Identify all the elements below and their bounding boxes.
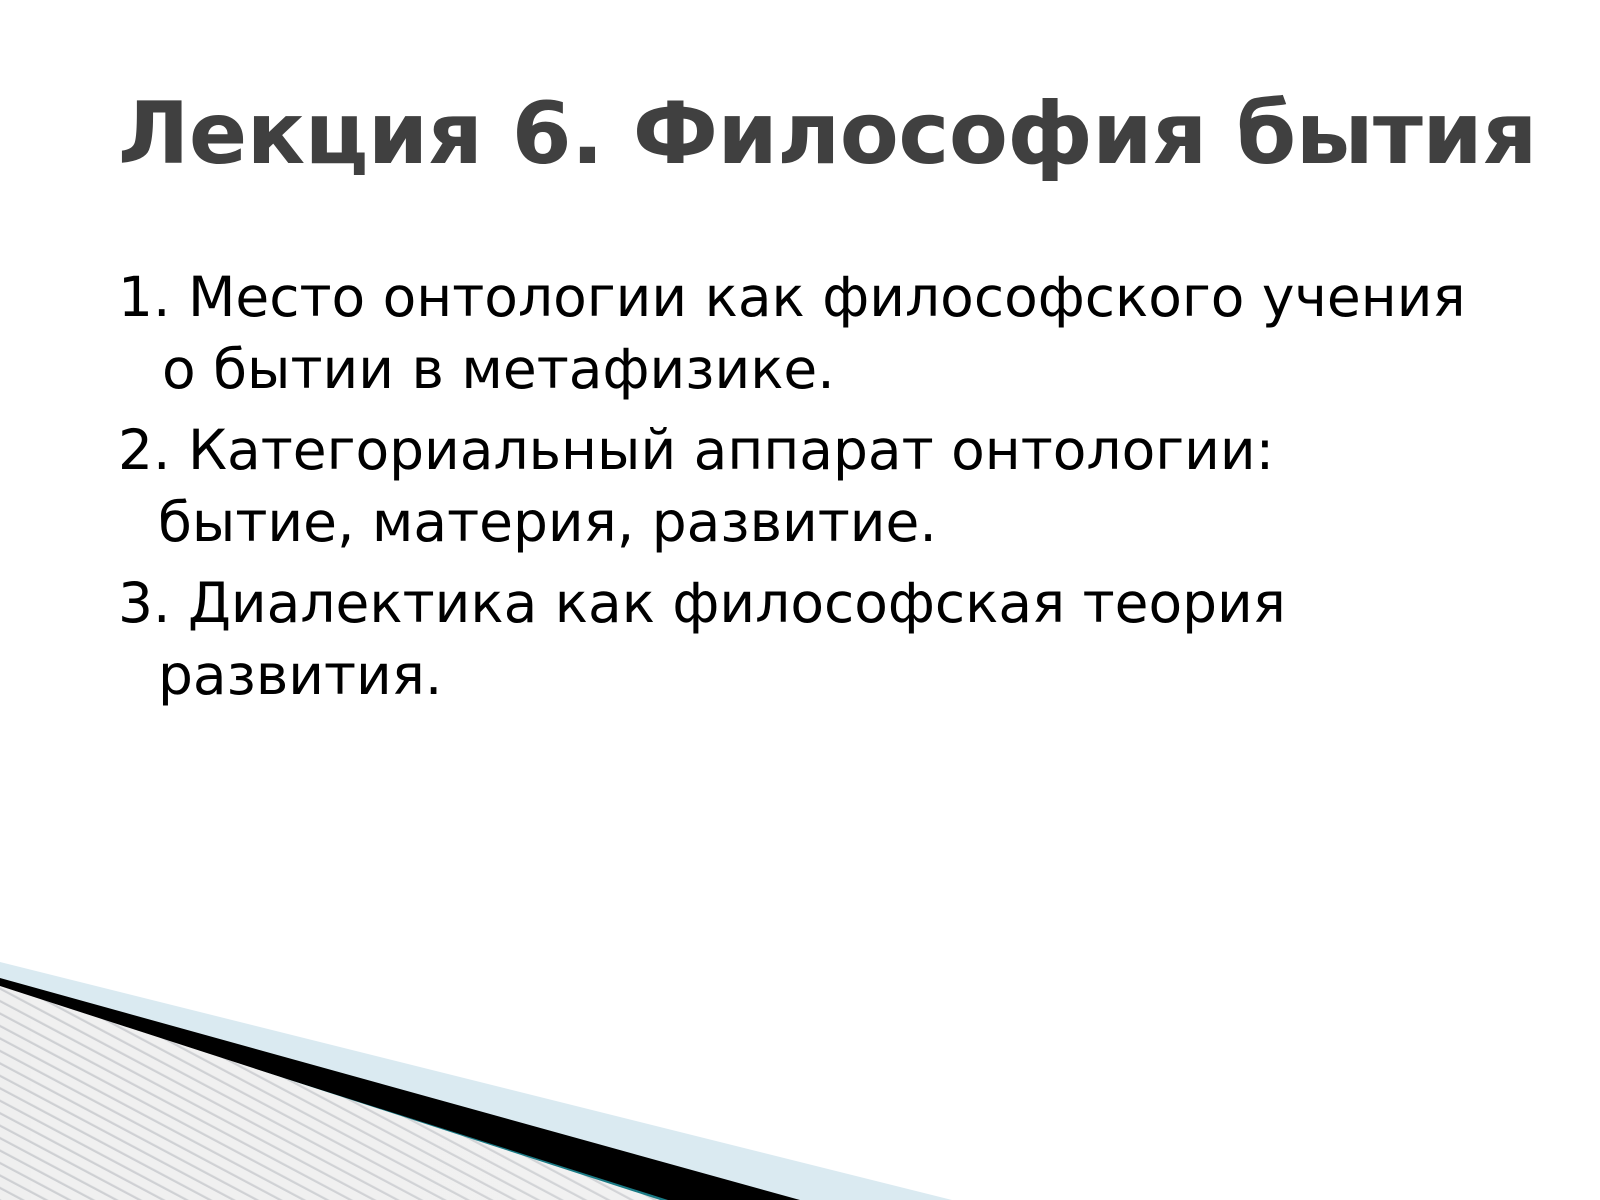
list-item: 2. Категориальный аппарат онтологии: быт… [118, 415, 1478, 558]
list-item: 3. Диалектика как философская теория раз… [118, 568, 1478, 711]
decorative-corner-graphic [0, 940, 1600, 1200]
deco-hatched-triangle [0, 940, 1600, 1200]
lecture-outline-list: 1. Место онтологии как философского учен… [118, 262, 1478, 721]
slide-canvas: Лекция 6. Философия бытия 1. Место онтол… [0, 0, 1600, 1200]
page-title: Лекция 6. Философия бытия [118, 86, 1498, 182]
deco-teal-accent-line [0, 988, 668, 1200]
deco-light-blue-band [0, 962, 952, 1200]
deco-black-wedge [0, 978, 800, 1200]
list-item: 1. Место онтологии как философского учен… [118, 262, 1478, 405]
